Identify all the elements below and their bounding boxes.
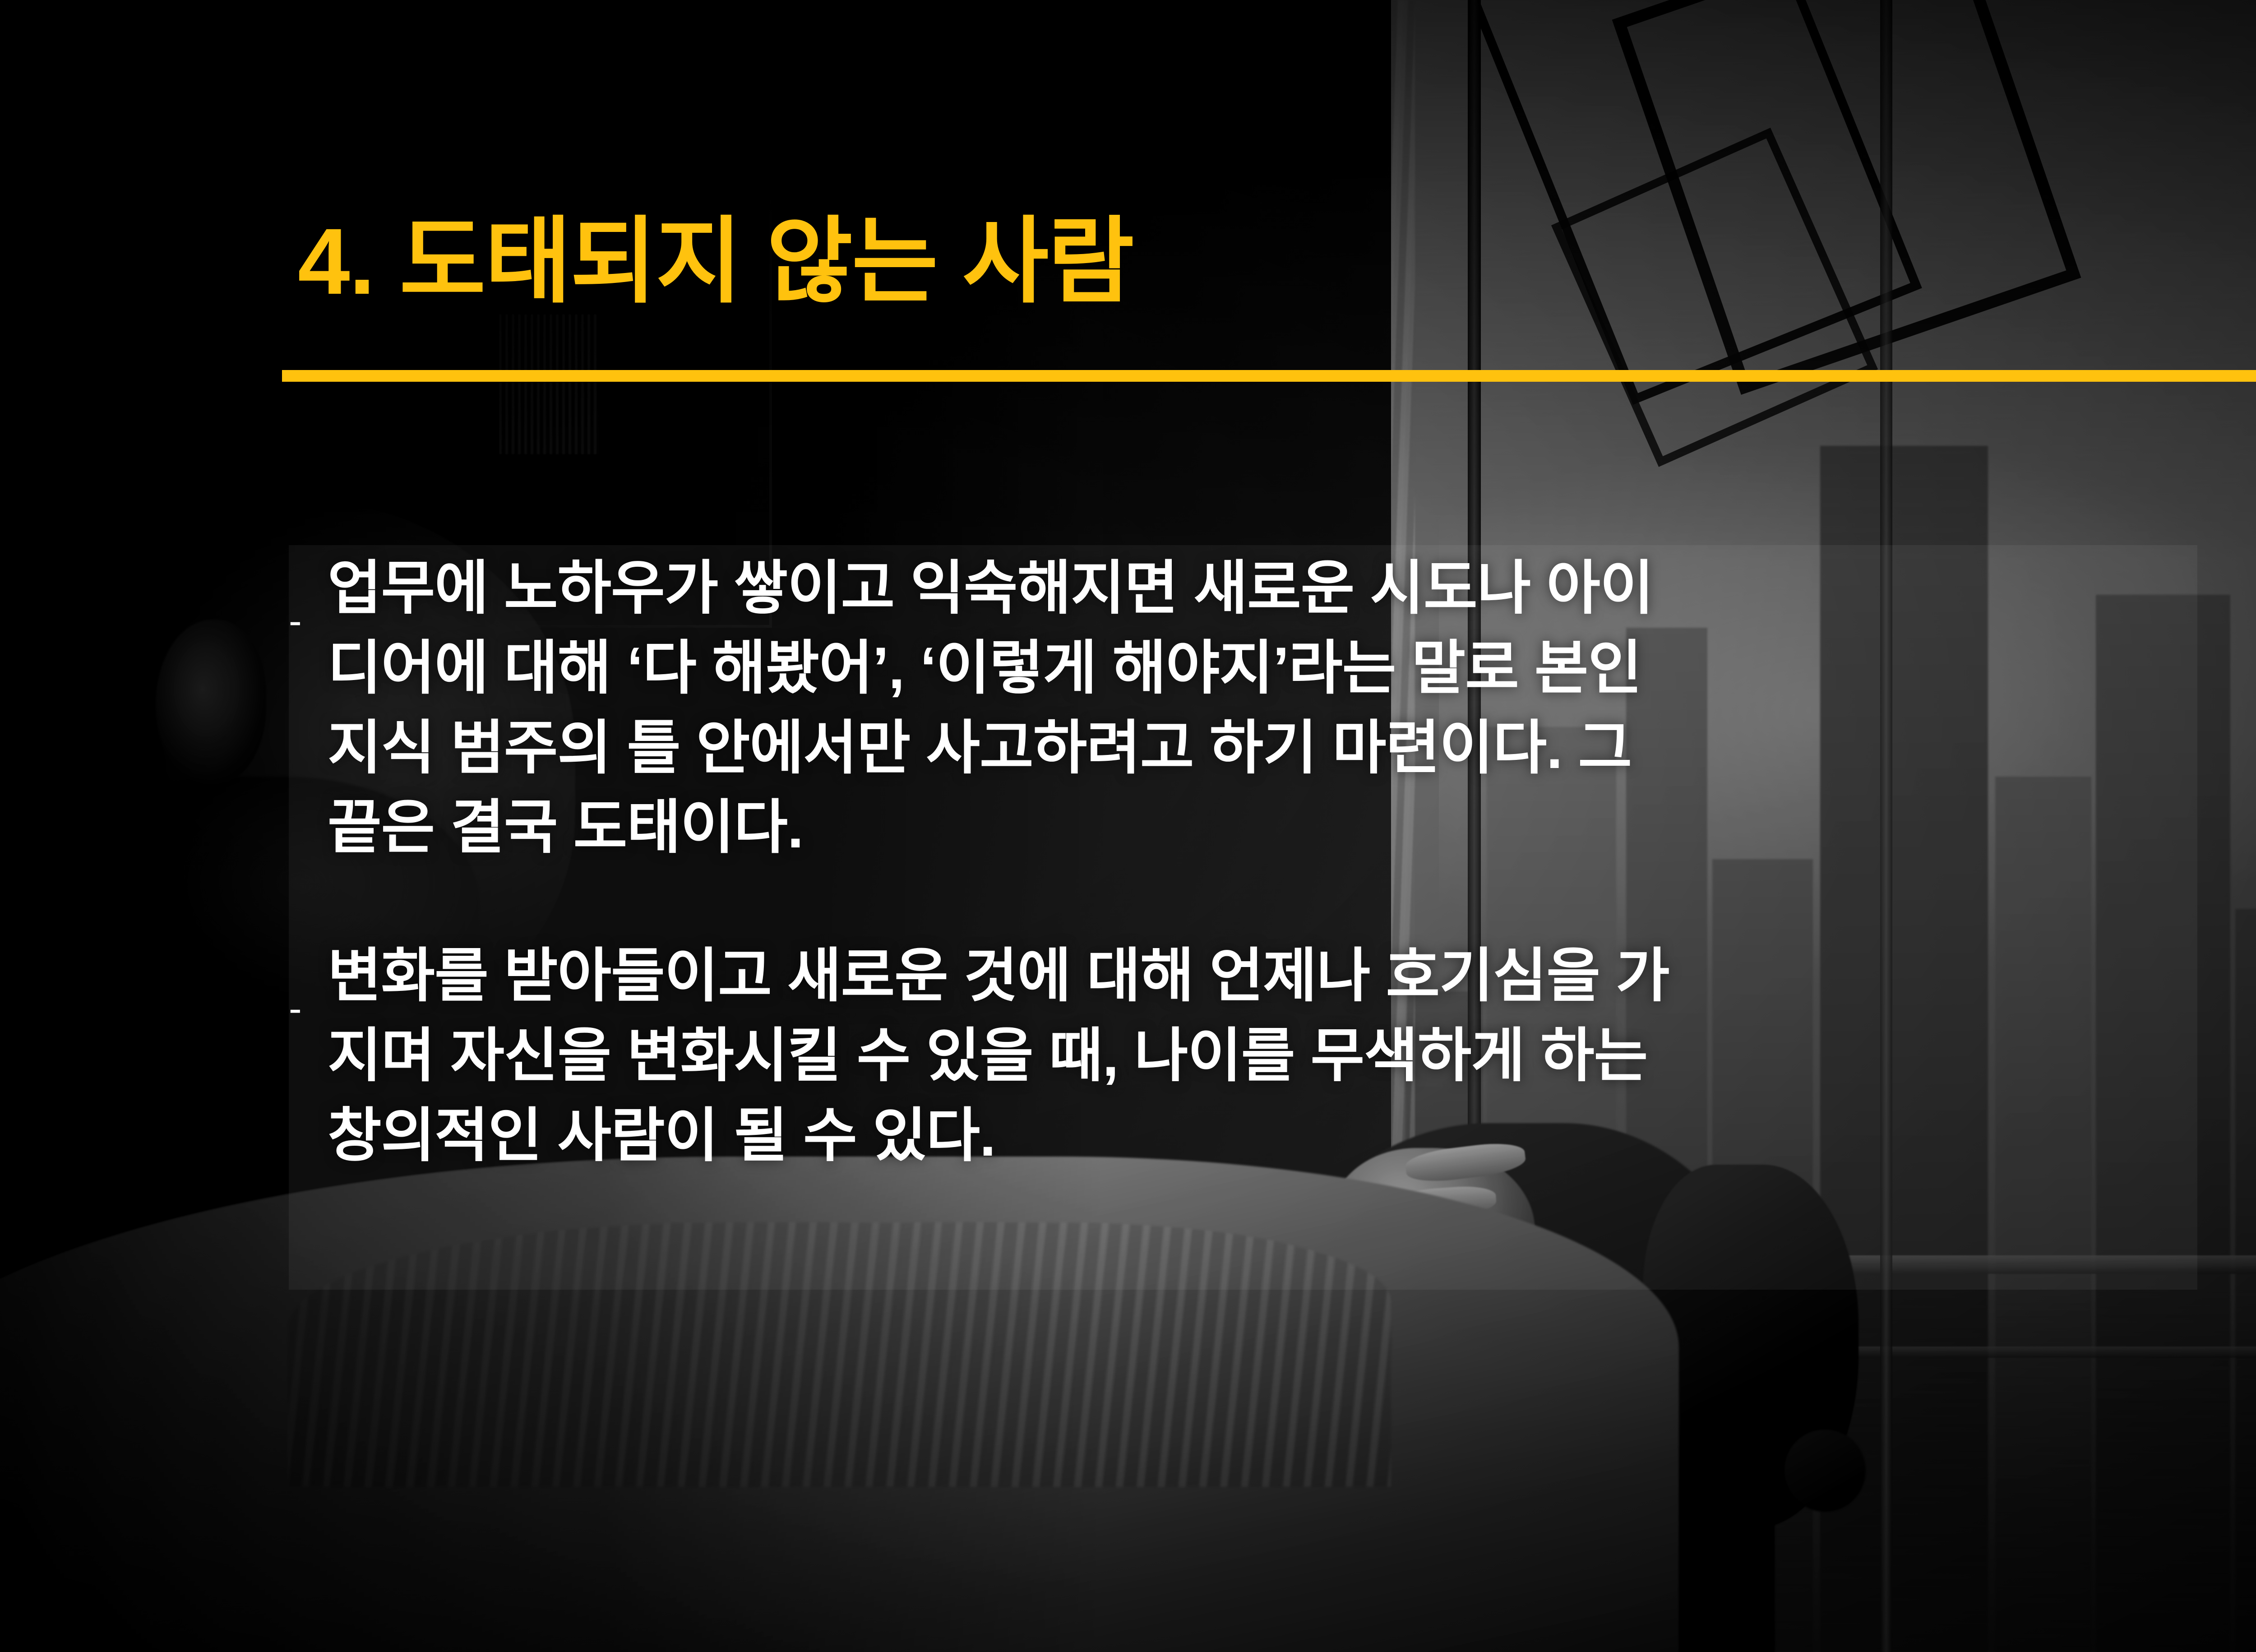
bullet-dash-icon: - [289,936,328,1028]
bullet-line: 디어에 대해 ‘다 해봤어’, ‘이렇게 해야지’라는 말로 본인 [328,628,2220,708]
presentation-slide: 4. 도태되지 않는 사람 - 업무에 노하우가 쌓이고 익숙해지면 새로운 시… [0,0,2256,1652]
page-title: 4. 도태되지 않는 사람 [298,212,1133,311]
list-item: - 업무에 노하우가 쌓이고 익숙해지면 새로운 시도나 아이 디어에 대해 ‘… [289,548,2220,867]
title-underline [282,370,2256,382]
bullet-line: 창의적인 사람이 될 수 있다. [328,1096,2220,1175]
list-item: - 변화를 받아들이고 새로운 것에 대해 언제나 호기심을 가 지며 자신을 … [289,936,2220,1175]
bullet-line: 지식 범주의 틀 안에서만 사고하려고 하기 마련이다. 그 [328,708,2220,788]
bullet-line: 끝은 결국 도태이다. [328,787,2220,867]
bullet-line: 업무에 노하우가 쌓이고 익숙해지면 새로운 시도나 아이 [328,548,2220,628]
bullet-text: 변화를 받아들이고 새로운 것에 대해 언제나 호기심을 가 지며 자신을 변화… [328,936,2220,1175]
bullet-dash-icon: - [289,548,328,640]
bullet-line: 지며 자신을 변화시킬 수 있을 때, 나이를 무색하게 하는 [328,1016,2220,1096]
bullet-list: - 업무에 노하우가 쌓이고 익숙해지면 새로운 시도나 아이 디어에 대해 ‘… [289,548,2220,1175]
bullet-line: 변화를 받아들이고 새로운 것에 대해 언제나 호기심을 가 [328,936,2220,1016]
bullet-text: 업무에 노하우가 쌓이고 익숙해지면 새로운 시도나 아이 디어에 대해 ‘다 … [328,548,2220,867]
